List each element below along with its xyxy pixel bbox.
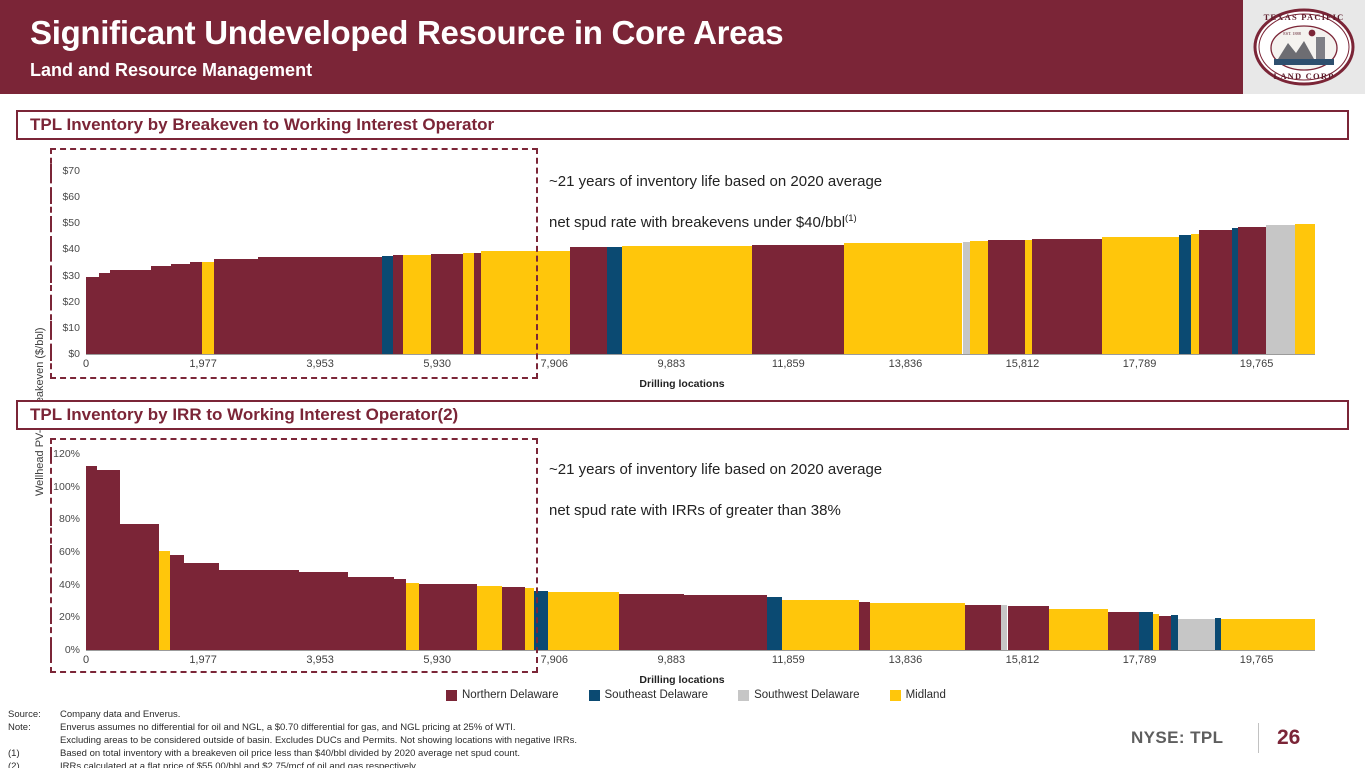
chart-bar-segment [110, 270, 151, 354]
legend-swatch-icon [738, 690, 749, 701]
section-title-irr: TPL Inventory by IRR to Working Interest… [16, 400, 1349, 430]
chart-bar-segment [120, 524, 159, 650]
chart-bar-segment [525, 588, 534, 650]
y-axis-tick-label: 20% [59, 611, 80, 623]
y-axis-tick-mark [50, 242, 52, 256]
y-axis-tick-label: 100% [53, 481, 80, 493]
chart-bar-segment [171, 264, 191, 354]
chart-bar-segment [1238, 227, 1266, 354]
svg-text:LAND CORP: LAND CORP [1273, 71, 1334, 81]
y-axis-tick-mark [50, 321, 52, 335]
chart-bar-segment [782, 600, 859, 650]
y-axis-tick-mark [50, 643, 52, 657]
chart-bar-segment [965, 605, 1001, 650]
chart-bar-segment [477, 586, 502, 650]
chart-bar-segment [219, 570, 299, 650]
legend-item-label: Northern Delaware [462, 689, 559, 701]
chart-bar-segment [159, 551, 170, 650]
x-axis-tick-label: 1,977 [189, 654, 217, 666]
chart-bar-segment [1159, 616, 1171, 650]
y-axis-tick-mark [50, 480, 52, 494]
chart-bar-segment [988, 240, 1025, 354]
x-axis-tick-label: 1,977 [189, 358, 217, 370]
chart-bar-segment [403, 255, 431, 354]
chart-bar-segment [99, 273, 110, 354]
chart-bar-segment [963, 242, 971, 354]
chart-bar-segment [86, 466, 97, 650]
slide-header: Significant Undeveloped Resource in Core… [0, 0, 1365, 94]
chart-irr-x-axis-label: Drilling locations [639, 674, 724, 686]
legend-item[interactable]: Northern Delaware [446, 689, 559, 701]
y-axis-tick-label: $30 [62, 270, 80, 282]
chart-bar-segment [1032, 239, 1102, 354]
chart-bar-segment [622, 246, 752, 354]
footnote-2-key: (2) [8, 760, 60, 768]
chart-bar-segment [1221, 619, 1315, 650]
chart-bar-segment [406, 583, 420, 650]
x-axis-tick-label: 15,812 [1006, 654, 1040, 666]
y-axis-tick-mark [50, 545, 52, 559]
section-title-breakeven: TPL Inventory by Breakeven to Working In… [16, 110, 1349, 140]
chart-bar-segment [844, 243, 962, 354]
legend-item-label: Midland [906, 689, 946, 701]
y-axis-tick-label: 0% [65, 644, 80, 656]
y-axis-tick-label: $70 [62, 165, 80, 177]
chart-bar-segment [1108, 612, 1139, 650]
y-axis-tick-mark [50, 164, 52, 178]
legend-swatch-icon [890, 690, 901, 701]
footnote-1-value: Based on total inventory with a breakeve… [60, 747, 1078, 760]
chart-bar-segment [474, 253, 481, 354]
chart-irr-baseline [86, 650, 1315, 651]
y-axis-tick-mark [50, 347, 52, 361]
legend-item-label: Southeast Delaware [605, 689, 709, 701]
svg-text:EST. 1888: EST. 1888 [1283, 31, 1301, 36]
chart-bar-segment [299, 572, 348, 650]
chart-bar-segment [214, 259, 258, 354]
y-axis-tick-label: 40% [59, 579, 80, 591]
x-axis-tick-label: 9,883 [658, 358, 686, 370]
section-title-breakeven-label: TPL Inventory by Breakeven to Working In… [30, 115, 494, 135]
footnote-note-2: Excluding areas to be considered outside… [8, 734, 1078, 747]
chart-bar-segment [1179, 235, 1191, 354]
x-axis-tick-label: 7,906 [540, 654, 568, 666]
nyse-ticker: NYSE: TPL [1131, 728, 1223, 748]
x-axis-tick-label: 0 [83, 654, 89, 666]
y-axis-tick-label: $20 [62, 296, 80, 308]
footnote-source: Source: Company data and Enverus. [8, 708, 1078, 721]
chart-bar-segment [1102, 237, 1179, 354]
chart-bar-segment [151, 266, 171, 354]
chart-bar-segment [534, 591, 548, 650]
legend-swatch-icon [446, 690, 457, 701]
footnote-note-key: Note: [8, 721, 60, 734]
legend-item[interactable]: Southwest Delaware [738, 689, 859, 701]
chart-bar-segment [1025, 240, 1032, 354]
company-logo: TEXAS PACIFIC LAND CORP EST. 1888 [1243, 0, 1365, 94]
footnotes: Source: Company data and Enverus. Note: … [8, 708, 1078, 768]
chart-bar-segment [1049, 609, 1108, 650]
x-axis-tick-label: 3,953 [306, 358, 334, 370]
chart-bar-segment [348, 577, 394, 650]
chart-bar-segment [607, 247, 622, 354]
chart-bar-segment [684, 595, 767, 650]
chart-bar-segment [202, 262, 214, 354]
footnote-source-value: Company data and Enverus. [60, 708, 1078, 721]
x-axis-tick-label: 0 [83, 358, 89, 370]
section-title-irr-superscript: (2) [437, 405, 458, 425]
y-axis-tick-mark [50, 447, 52, 461]
legend-swatch-icon [589, 690, 600, 701]
footnote-source-key: Source: [8, 708, 60, 721]
breakeven-callout: ~21 years of inventory life based on 202… [549, 152, 969, 233]
y-axis-tick-label: $50 [62, 217, 80, 229]
footer-divider [1258, 723, 1259, 753]
y-axis-tick-mark [50, 216, 52, 230]
chart-bar-segment [170, 555, 184, 650]
chart-bar-segment [870, 603, 966, 650]
chart-bar-segment [382, 256, 394, 354]
y-axis-tick-label: $60 [62, 191, 80, 203]
x-axis-tick-label: 11,859 [772, 358, 805, 370]
y-axis-tick-mark [50, 190, 52, 204]
chart-bar-segment [190, 262, 202, 354]
x-axis-tick-label: 7,906 [540, 358, 568, 370]
chart-bar-segment [767, 597, 782, 650]
chart-bar-segment [481, 251, 570, 354]
page-title: Significant Undeveloped Resource in Core… [30, 14, 783, 52]
chart-bar-segment [1001, 605, 1008, 650]
x-axis-tick-label: 15,812 [1006, 358, 1040, 370]
svg-text:TEXAS PACIFIC: TEXAS PACIFIC [1264, 12, 1345, 22]
section-title-irr-label: TPL Inventory by IRR to Working Interest… [30, 405, 437, 425]
footnote-1-key: (1) [8, 747, 60, 760]
chart-bar-segment [1295, 224, 1315, 354]
y-axis-tick-mark [50, 512, 52, 526]
x-axis-tick-label: 11,859 [772, 654, 805, 666]
chart-legend: Northern DelawareSoutheast DelawareSouth… [446, 689, 968, 701]
chart-bar-segment [1199, 230, 1232, 354]
x-axis-tick-label: 5,930 [423, 358, 451, 370]
chart-bar-segment [1139, 612, 1153, 650]
x-axis-tick-label: 19,765 [1240, 654, 1274, 666]
footnote-2-value: IRRs calculated at a flat price of $55.0… [60, 760, 1078, 768]
y-axis-tick-label: 120% [53, 448, 80, 460]
y-axis-tick-label: 60% [59, 546, 80, 558]
irr-callout: ~21 years of inventory life based on 202… [549, 440, 969, 521]
y-axis-tick-mark [50, 269, 52, 283]
chart-bar-segment [184, 563, 220, 650]
chart-bar-segment [1008, 606, 1049, 650]
chart-bar-segment [419, 584, 477, 650]
breakeven-callout-line1: ~21 years of inventory life based on 202… [549, 173, 882, 190]
x-axis-tick-label: 13,836 [889, 358, 923, 370]
footnote-1: (1) Based on total inventory with a brea… [8, 747, 1078, 760]
chart-bar-segment [752, 245, 844, 354]
chart-bar-segment [97, 470, 121, 650]
y-axis-tick-label: 80% [59, 513, 80, 525]
x-axis-tick-label: 5,930 [423, 654, 451, 666]
chart-bar-segment [431, 254, 463, 354]
y-axis-tick-label: $0 [68, 348, 80, 360]
chart-breakeven-x-axis-label: Drilling locations [639, 378, 724, 390]
chart-bar-segment [1178, 619, 1215, 650]
chart-breakeven-baseline [86, 354, 1315, 355]
footnote-2: (2) IRRs calculated at a flat price of $… [8, 760, 1078, 768]
legend-item[interactable]: Southeast Delaware [589, 689, 709, 701]
page-subtitle: Land and Resource Management [30, 60, 312, 81]
chart-bar-segment [970, 241, 988, 354]
chart-bar-segment [1171, 615, 1178, 650]
footnote-note-value-1: Enverus assumes no differential for oil … [60, 721, 1078, 734]
y-axis-tick-mark [50, 295, 52, 309]
chart-bar-segment [570, 247, 607, 354]
x-axis-tick-label: 13,836 [889, 654, 923, 666]
irr-callout-line2: net spud rate with IRRs of greater than … [549, 502, 841, 519]
slide: Significant Undeveloped Resource in Core… [0, 0, 1365, 768]
x-axis-tick-label: 3,953 [306, 654, 334, 666]
footnote-note-value-2: Excluding areas to be considered outside… [60, 734, 1078, 747]
breakeven-callout-line2: net spud rate with breakevens under $40/… [549, 214, 845, 231]
irr-callout-line1: ~21 years of inventory life based on 202… [549, 461, 882, 478]
chart-bar-segment [86, 277, 99, 354]
chart-bar-segment [463, 253, 474, 354]
y-axis-tick-label: $10 [62, 322, 80, 334]
x-axis-tick-label: 17,789 [1123, 358, 1157, 370]
page-number: 26 [1277, 726, 1300, 750]
texas-pacific-land-corp-seal-icon: TEXAS PACIFIC LAND CORP EST. 1888 [1252, 7, 1356, 87]
y-axis-tick-mark [50, 610, 52, 624]
chart-bar-segment [548, 592, 619, 650]
y-axis-tick-mark [50, 578, 52, 592]
chart-bar-segment [1266, 225, 1294, 354]
chart-bar-segment [619, 594, 684, 650]
chart-bar-segment [258, 257, 381, 354]
breakeven-callout-superscript: (1) [845, 213, 857, 224]
x-axis-tick-label: 9,883 [658, 654, 686, 666]
legend-item-label: Southwest Delaware [754, 689, 859, 701]
x-axis-tick-label: 19,765 [1240, 358, 1274, 370]
chart-bar-segment [502, 587, 525, 650]
chart-bar-segment [1215, 618, 1222, 650]
chart-bar-segment [393, 255, 402, 354]
chart-bar-segment [859, 602, 870, 650]
x-axis-tick-label: 17,789 [1123, 654, 1157, 666]
chart-bar-segment [1191, 234, 1199, 354]
chart-bar-segment [394, 579, 406, 650]
y-axis-tick-label: $40 [62, 243, 80, 255]
footnote-note-spacer [8, 734, 60, 747]
footnote-note: Note: Enverus assumes no differential fo… [8, 721, 1078, 734]
legend-item[interactable]: Midland [890, 689, 946, 701]
